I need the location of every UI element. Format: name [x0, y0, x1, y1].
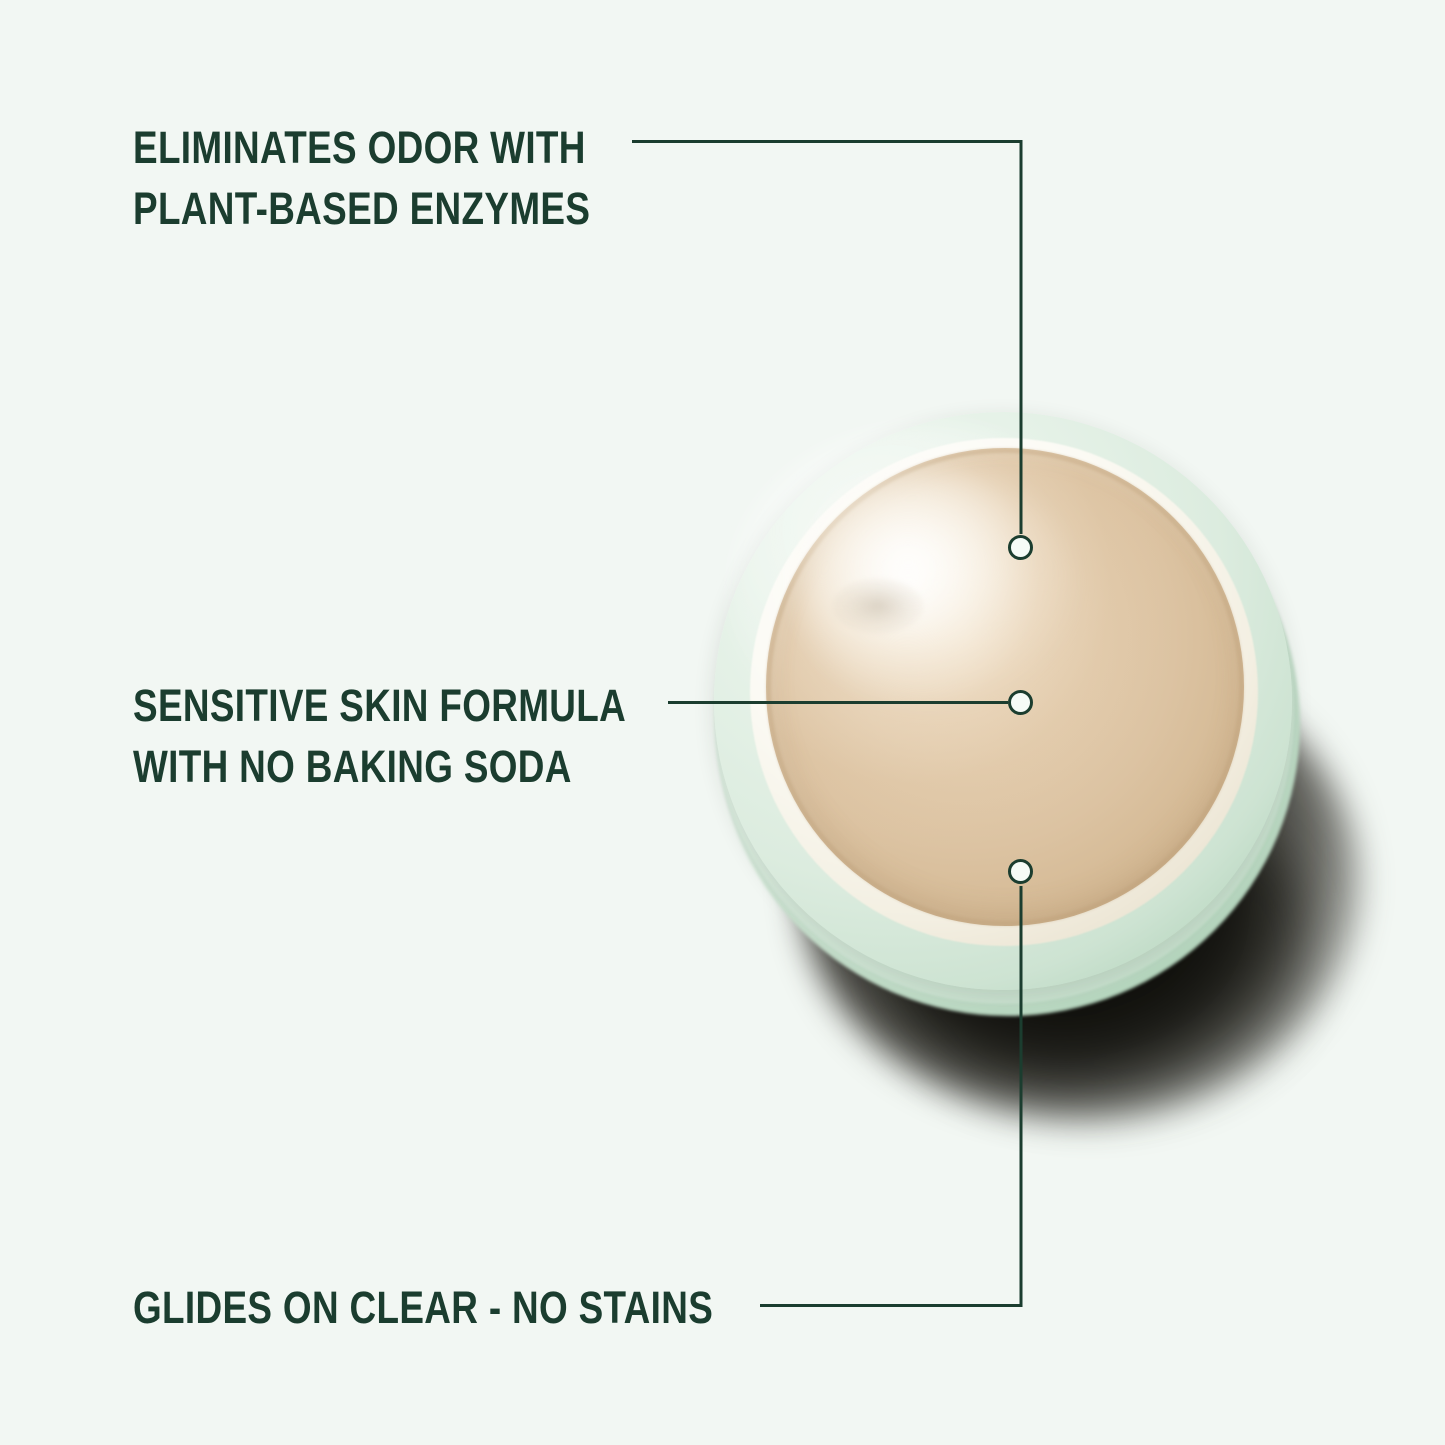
callout-dot-eliminates-odor[interactable]: [1008, 535, 1033, 560]
callout-label-eliminates-odor: ELIMINATES ODOR WITH PLANT-BASED ENZYMES: [133, 117, 590, 239]
callout-dot-sensitive-skin[interactable]: [1008, 690, 1033, 715]
callout-label-line-2: PLANT-BASED ENZYMES: [133, 178, 590, 239]
callout-label-line-1: ELIMINATES ODOR WITH: [133, 117, 590, 178]
callout-label-line-2: WITH NO BAKING SODA: [133, 736, 626, 797]
connector-line-glides-on-clear: [760, 886, 1021, 1306]
callout-dot-glides-on-clear[interactable]: [1008, 859, 1033, 884]
product-infographic-canvas: ELIMINATES ODOR WITH PLANT-BASED ENZYMES…: [0, 0, 1445, 1445]
callout-label-line-1: SENSITIVE SKIN FORMULA: [133, 675, 626, 736]
callout-label-glides-on-clear: GLIDES ON CLEAR - NO STAINS: [133, 1277, 713, 1338]
callout-label-line-1: GLIDES ON CLEAR - NO STAINS: [133, 1277, 713, 1338]
callout-label-sensitive-skin: SENSITIVE SKIN FORMULA WITH NO BAKING SO…: [133, 675, 626, 797]
connector-line-eliminates-odor: [632, 142, 1021, 535]
